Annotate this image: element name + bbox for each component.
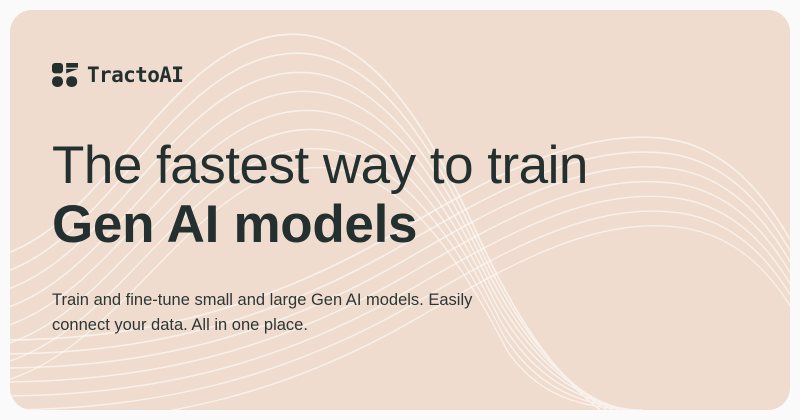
- brand-name: TractoAI: [87, 65, 183, 86]
- brand-logo[interactable]: TractoAI: [52, 60, 183, 90]
- description-line-2: connect your data. All in one place.: [52, 313, 652, 338]
- promo-banner: TractoAI The fastest way to train Gen AI…: [0, 0, 800, 420]
- headline-line-1: The fastest way to train: [52, 138, 672, 193]
- description-line-1: Train and fine-tune small and large Gen …: [52, 288, 652, 313]
- hero-headline: The fastest way to train Gen AI models: [52, 138, 672, 258]
- headline-line-2: Gen AI models: [52, 193, 672, 258]
- hero-card: TractoAI The fastest way to train Gen AI…: [10, 10, 790, 410]
- tracto-grid-logo-icon: [52, 63, 78, 87]
- hero-description: Train and fine-tune small and large Gen …: [52, 288, 652, 338]
